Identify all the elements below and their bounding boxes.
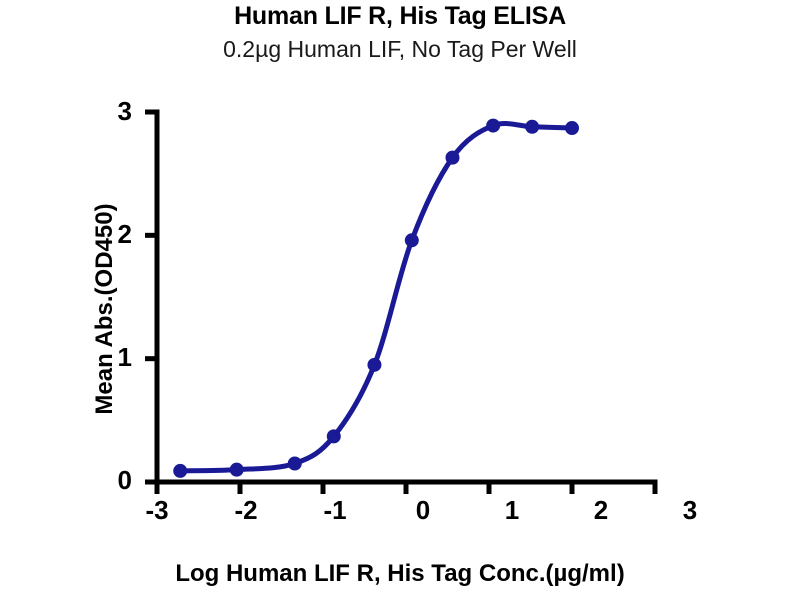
data-point (368, 358, 381, 371)
data-point (405, 234, 418, 247)
data-point (446, 151, 459, 164)
data-point (230, 463, 243, 476)
data-point (526, 120, 539, 133)
data-point (327, 430, 340, 443)
data-point (487, 119, 500, 132)
data-series-layer (174, 119, 579, 477)
series-0 (174, 119, 579, 477)
data-point (566, 122, 579, 135)
data-point (174, 464, 187, 477)
plot-canvas (0, 0, 800, 600)
data-point (288, 457, 301, 470)
series-line (180, 123, 572, 470)
axes-layer (145, 112, 655, 494)
chart-figure: Human LIF R, His Tag ELISA 0.2µg Human L… (0, 0, 800, 600)
